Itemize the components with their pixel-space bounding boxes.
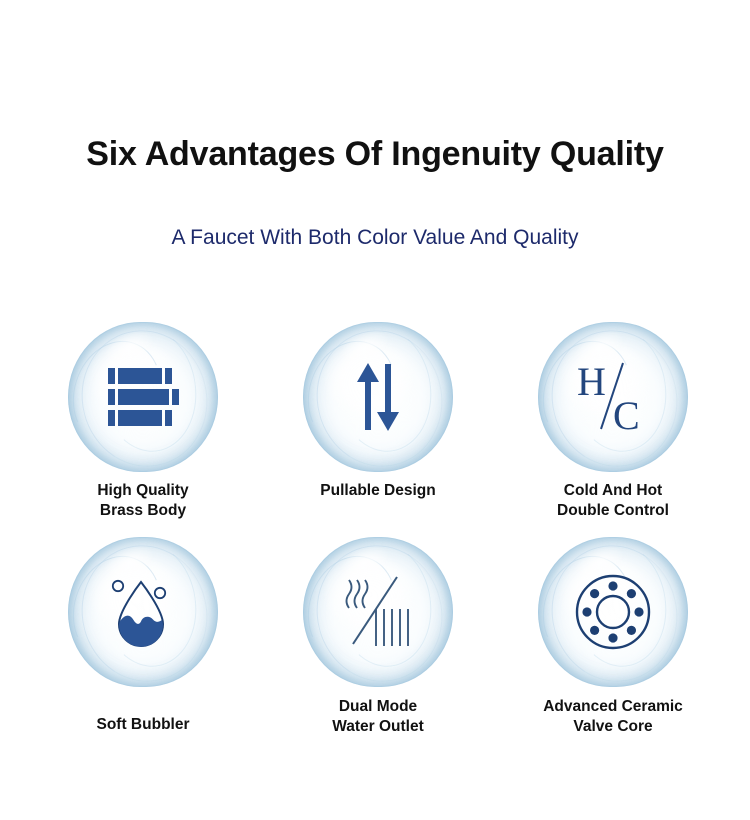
feature-label: Soft Bubbler: [28, 715, 258, 735]
bubble-2: [303, 322, 453, 472]
feature-label-line-2: Water Outlet: [263, 717, 493, 737]
feature-label: Advanced Ceramic Valve Core: [498, 697, 728, 737]
feature-highlights-page: Six Advantages Of Ingenuity Quality A Fa…: [0, 0, 750, 820]
feature-item-dual-mode-water-outlet: Dual Mode Water Outlet: [263, 533, 493, 748]
feature-label: High Quality Brass Body: [28, 481, 258, 521]
bubble-4: [68, 537, 218, 687]
feature-label-line-2: Brass Body: [28, 501, 258, 521]
svg-text:H: H: [577, 359, 606, 404]
feature-label-line-1: High Quality: [28, 481, 258, 501]
page-subtitle: A Faucet With Both Color Value And Quali…: [0, 226, 750, 249]
feature-label-line-2: Valve Core: [498, 717, 728, 737]
brass-bars-icon: [68, 322, 218, 472]
ceramic-valve-core-icon: [538, 537, 688, 687]
water-droplet-icon: [68, 537, 218, 687]
up-down-arrows-icon: [303, 322, 453, 472]
hot-cold-hc-icon: H C: [538, 322, 688, 472]
feature-label-line-1: Soft Bubbler: [28, 715, 258, 735]
feature-item-pullable-design: Pullable Design: [263, 318, 493, 533]
bubble-3: H C: [538, 322, 688, 472]
features-row-1: High Quality Brass Body: [0, 318, 750, 533]
feature-label-line-1: Cold And Hot: [498, 481, 728, 501]
features-row-2: Soft Bubbler: [0, 533, 750, 748]
feature-item-soft-bubbler: Soft Bubbler: [28, 533, 258, 748]
feature-label-line-1: Pullable Design: [263, 481, 493, 501]
bubble-6: [538, 537, 688, 687]
dual-mode-spray-icon: [303, 537, 453, 687]
feature-label: Cold And Hot Double Control: [498, 481, 728, 521]
feature-item-cold-and-hot-double-control: H C Cold And Hot Double Control: [498, 318, 728, 533]
feature-label: Pullable Design: [263, 481, 493, 501]
bubble-1: [68, 322, 218, 472]
feature-item-advanced-ceramic-valve-core: Advanced Ceramic Valve Core: [498, 533, 728, 748]
feature-label: Dual Mode Water Outlet: [263, 697, 493, 737]
svg-text:C: C: [613, 393, 640, 438]
feature-label-line-2: Double Control: [498, 501, 728, 521]
feature-label-line-1: Advanced Ceramic: [498, 697, 728, 717]
bubble-5: [303, 537, 453, 687]
page-title: Six Advantages Of Ingenuity Quality: [0, 136, 750, 173]
feature-item-high-quality-brass-body: High Quality Brass Body: [28, 318, 258, 533]
features-grid: High Quality Brass Body: [0, 318, 750, 748]
feature-label-line-1: Dual Mode: [263, 697, 493, 717]
